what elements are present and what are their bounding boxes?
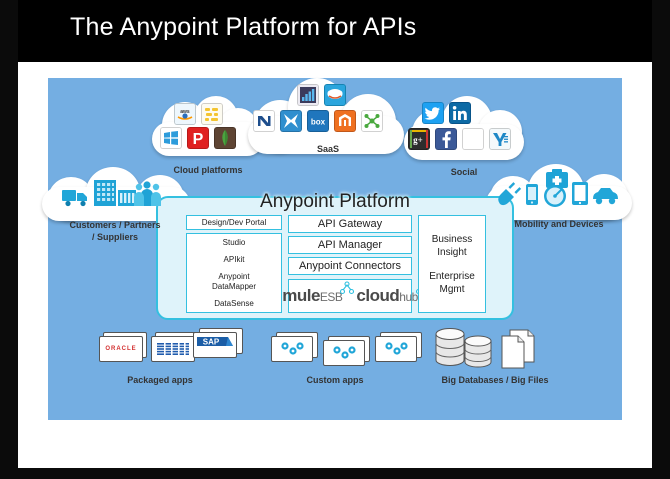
pivotal-icon[interactable]: P	[187, 127, 209, 149]
phone-icon	[526, 184, 538, 205]
cloud-platforms-icons-bottom: P	[160, 127, 236, 149]
custom-apps-label: Custom apps	[275, 375, 395, 385]
runtime-logos: muleESB cloudhub	[289, 286, 411, 306]
sap-card[interactable]: SAP	[193, 332, 237, 358]
xactly-icon[interactable]	[280, 110, 302, 132]
netsuite-icon[interactable]	[253, 110, 275, 132]
office-building-icon	[94, 180, 116, 206]
mongodb-icon[interactable]	[214, 127, 236, 149]
cloudhub-logo[interactable]: cloudhub	[356, 286, 417, 306]
cloud-platforms-icons-top: aws	[174, 103, 223, 125]
packaged-apps-label: Packaged apps	[95, 375, 225, 385]
big-data-label: Big Databases / Big Files	[420, 375, 570, 385]
api-gateway-label: API Gateway	[318, 218, 382, 230]
google-cloud-icon[interactable]	[201, 103, 223, 125]
building-icon	[118, 190, 136, 206]
slide-canvas: The Anypoint Platform for APIs aws	[0, 0, 670, 479]
truck-icon	[62, 190, 87, 206]
datamapper-line1: Anypoint	[218, 272, 249, 281]
business-insight-label[interactable]: Business Insight	[432, 233, 473, 259]
saas-icons-bottom: box	[253, 110, 383, 132]
mgmt-line: Mgmt	[439, 284, 464, 295]
salesforce-icon[interactable]	[324, 84, 346, 106]
box-icon[interactable]: box	[307, 110, 329, 132]
twitter-icon[interactable]	[422, 102, 444, 124]
insight-line: Insight	[437, 247, 466, 258]
design-dev-portal-label: Design/Dev Portal	[202, 218, 266, 228]
saas-icons-top	[297, 84, 346, 106]
gears-icon	[329, 344, 359, 362]
car-icon	[593, 188, 618, 204]
medkit-icon	[546, 169, 568, 188]
tablet-icon	[572, 182, 588, 205]
ibm-card[interactable]	[151, 336, 195, 362]
mobility-label: Mobility and Devices	[486, 218, 632, 230]
oracle-card[interactable]: ORACLE	[99, 336, 143, 362]
datamapper-label[interactable]: Anypoint DataMapper	[212, 272, 256, 292]
big-data-group	[432, 326, 542, 372]
oracle-label: ORACLE	[105, 346, 136, 352]
api-manager-box[interactable]: API Manager	[288, 236, 412, 254]
runtime-logos-box: muleESB cloudhub	[288, 279, 412, 313]
medical-cross-icon[interactable]	[361, 110, 383, 132]
custom-app-card[interactable]	[271, 336, 313, 362]
business-enterprise-box: Business Insight Enterprise Mgmt	[418, 215, 486, 313]
social-icons-top	[422, 102, 471, 124]
design-dev-portal-box[interactable]: Design/Dev Portal	[186, 215, 282, 230]
saas-label: SaaS	[288, 143, 368, 155]
anypoint-connectors-box[interactable]: Anypoint Connectors	[288, 257, 412, 275]
document-pages-icon	[502, 330, 534, 368]
windows-azure-icon[interactable]	[160, 127, 182, 149]
left-tools-box: Studio APIkit Anypoint DataMapper DataSe…	[186, 233, 282, 313]
studio-label[interactable]: Studio	[223, 238, 246, 248]
database-cylinder	[465, 336, 491, 367]
linkedin-icon[interactable]	[449, 102, 471, 124]
sap-label: SAP	[203, 338, 220, 347]
social-icons-bottom: g+	[408, 128, 511, 150]
svg-text:g+: g+	[413, 135, 423, 145]
enterprise-mgmt-label[interactable]: Enterprise Mgmt	[429, 270, 475, 296]
sap-logo-icon: SAP	[196, 335, 234, 355]
page-title: The Anypoint Platform for APIs	[70, 13, 416, 42]
svg-text:P: P	[193, 131, 204, 148]
svg-text:box: box	[311, 118, 326, 127]
business-line: Business	[432, 234, 473, 245]
custom-app-card[interactable]	[375, 336, 417, 362]
mule-nodes-icon	[339, 281, 355, 297]
gears-icon	[381, 340, 411, 358]
yammer-icon[interactable]	[489, 128, 511, 150]
database-cylinder	[436, 329, 464, 366]
custom-app-card[interactable]	[323, 340, 365, 366]
api-manager-label: API Manager	[318, 239, 382, 251]
facebook-icon[interactable]	[435, 128, 457, 150]
gears-icon	[277, 340, 307, 358]
aws-icon[interactable]: aws	[174, 103, 196, 125]
anypoint-connectors-label: Anypoint Connectors	[299, 260, 401, 272]
api-gateway-box[interactable]: API Gateway	[288, 215, 412, 233]
cloud-platforms-label: Cloud platforms	[152, 164, 264, 176]
analytics-icon[interactable]	[297, 84, 319, 106]
clarizen-icon[interactable]	[462, 128, 484, 150]
datasense-label[interactable]: DataSense	[214, 299, 254, 309]
title-bar: The Anypoint Platform for APIs	[18, 0, 652, 62]
custom-apps-group	[268, 330, 398, 370]
platform-title: Anypoint Platform	[156, 191, 514, 213]
googleplus-icon[interactable]: g+	[408, 128, 430, 150]
mule-wordmark: mule	[282, 286, 320, 305]
packaged-apps-group: ORACLE SAP	[95, 330, 225, 370]
cloud-wordmark: cloud	[356, 286, 399, 305]
enterprise-line: Enterprise	[429, 271, 475, 282]
apikit-label[interactable]: APIkit	[224, 255, 245, 265]
mulesoft-esb-logo[interactable]: muleESB	[282, 286, 342, 306]
customers-label-line1: Customers / Partners	[50, 219, 180, 231]
customers-label: Customers / Partners / Suppliers	[50, 219, 180, 243]
ibm-logo-icon	[156, 342, 190, 356]
magento-icon[interactable]	[334, 110, 356, 132]
customers-label-line2: / Suppliers	[50, 231, 180, 243]
datamapper-line2: DataMapper	[212, 282, 256, 291]
gauge-icon	[544, 185, 566, 207]
